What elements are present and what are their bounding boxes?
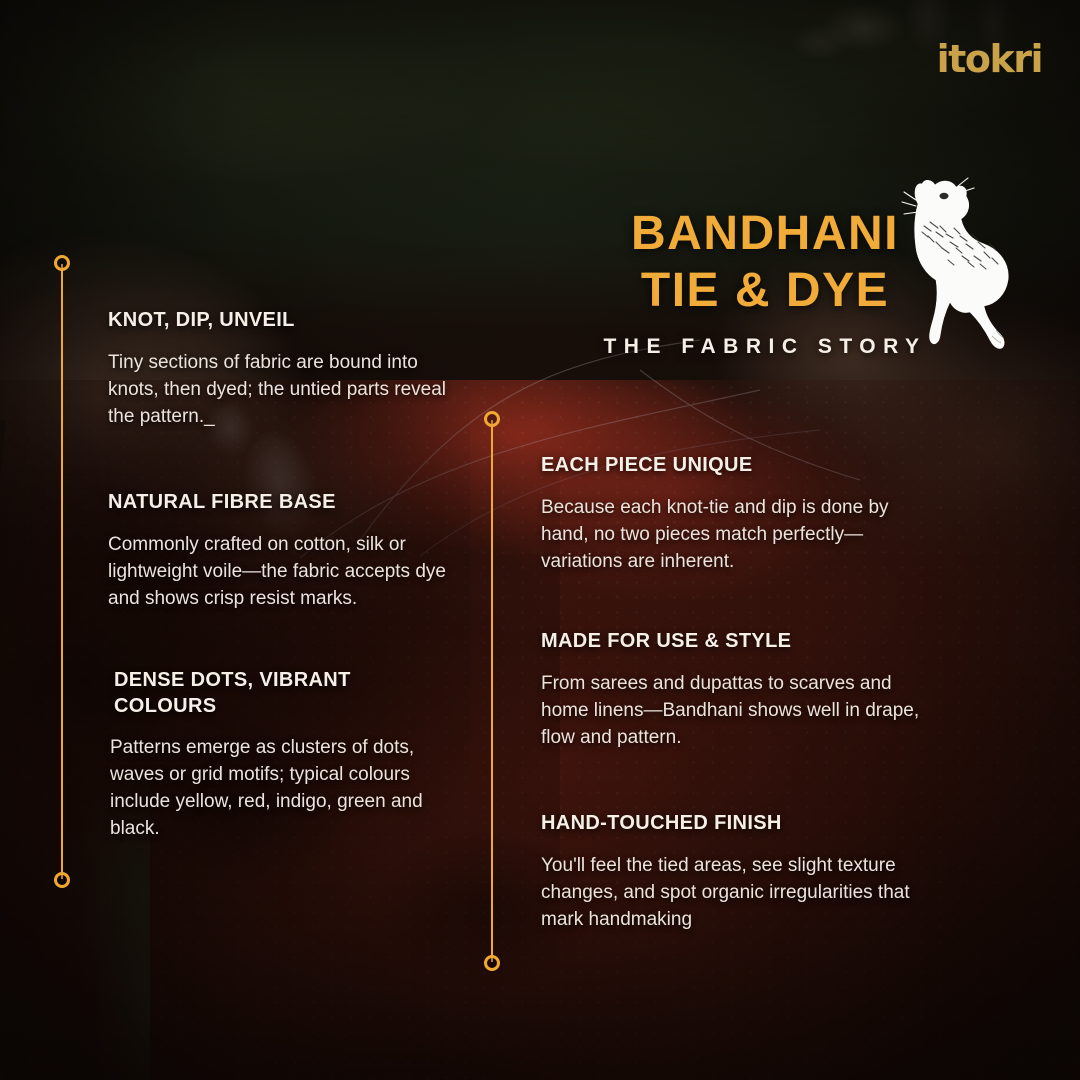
title-line-2: TIE & DYE: [560, 263, 970, 320]
info-block-heading: KNOT, DIP, UNVEIL: [108, 308, 468, 334]
info-block-heading: NATURAL FIBRE BASE: [108, 490, 460, 516]
brand-logo[interactable]: itokri: [937, 40, 1042, 78]
info-block-body: Because each knot-tie and dip is done by…: [541, 495, 941, 576]
info-block-hand-touched-finish: HAND-TOUCHED FINISH You'll feel the tied…: [541, 811, 949, 934]
infographic-poster: itokri BANDHANI TIE & DYE THE FABRIC STO…: [0, 0, 1080, 1080]
info-block-body: From sarees and dupattas to scarves and …: [541, 671, 941, 752]
info-block-heading: HAND-TOUCHED FINISH: [541, 811, 949, 837]
info-block-knot-dip-unveil: KNOT, DIP, UNVEIL Tiny sections of fabri…: [108, 308, 468, 431]
timeline-dot-left-top: [54, 255, 70, 271]
info-block-made-for-use-and-style: MADE FOR USE & STYLE From sarees and dup…: [541, 629, 941, 752]
title-line-1: BANDHANI: [560, 206, 970, 263]
timeline-rule-middle: [491, 411, 493, 971]
info-block-body: Commonly crafted on cotton, silk or ligh…: [108, 532, 460, 613]
info-block-dense-dots-vibrant-colours: DENSE DOTS, VIBRANT COLOURS Patterns eme…: [114, 668, 404, 843]
timeline-line-left: [61, 264, 63, 879]
info-block-each-piece-unique: EACH PIECE UNIQUE Because each knot-tie …: [541, 453, 941, 576]
subtitle: THE FABRIC STORY: [560, 335, 970, 359]
info-block-natural-fibre-base: NATURAL FIBRE BASE Commonly crafted on c…: [108, 490, 460, 613]
info-block-body: Patterns emerge as clusters of dots, wav…: [110, 735, 460, 843]
info-block-body: You'll feel the tied areas, see slight t…: [541, 853, 949, 934]
timeline-dot-middle-bottom: [484, 955, 500, 971]
timeline-line-middle: [491, 420, 493, 962]
info-block-heading: DENSE DOTS, VIBRANT COLOURS: [114, 668, 404, 719]
headline-group: BANDHANI TIE & DYE THE FABRIC STORY: [560, 206, 970, 359]
timeline-dot-middle-top: [484, 411, 500, 427]
timeline-dot-left-bottom: [54, 872, 70, 888]
info-block-heading: EACH PIECE UNIQUE: [541, 453, 941, 479]
info-block-body: Tiny sections of fabric are bound into k…: [108, 350, 468, 431]
info-block-heading: MADE FOR USE & STYLE: [541, 629, 941, 655]
timeline-rule-left: [61, 255, 63, 888]
